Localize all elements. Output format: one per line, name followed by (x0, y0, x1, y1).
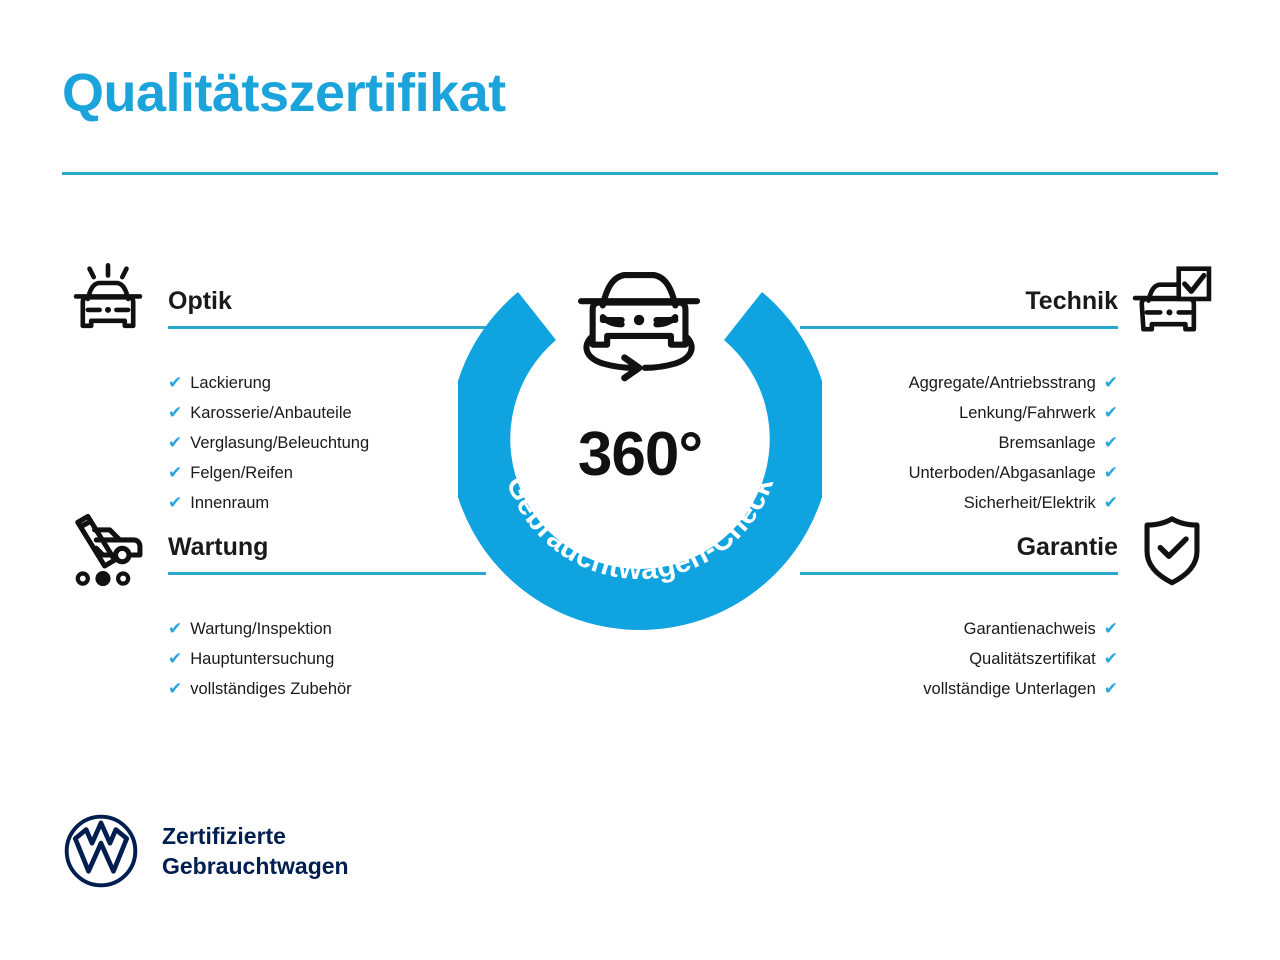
list-item-label: Karosserie/Anbauteile (190, 398, 351, 428)
list-item-label: Qualitätszertifikat (969, 644, 1096, 674)
list-item: Qualitätszertifikat✔ (758, 644, 1118, 674)
brand-text: ZertifizierteGebrauchtwagen (162, 821, 349, 882)
section-title-wrap-garantie: Garantie (800, 534, 1118, 575)
check-icon: ✔ (1104, 644, 1118, 674)
checklist-technik: Aggregate/Antriebsstrang✔ Lenkung/Fahrwe… (758, 368, 1218, 518)
check-icon: ✔ (168, 614, 182, 644)
car-front-shine-icon (62, 262, 154, 346)
vw-logo-icon (62, 812, 140, 890)
list-item: ✔Hauptuntersuchung (168, 644, 522, 674)
section-title-wrap-wartung: Wartung (168, 534, 486, 575)
list-item: vollständige Unterlagen✔ (758, 674, 1118, 704)
section-title-wrap-technik: Technik (800, 288, 1118, 329)
section-divider-garantie (800, 572, 1118, 575)
section-title-garantie: Garantie (800, 534, 1118, 562)
section-title-wartung: Wartung (168, 534, 486, 562)
section-header-technik: Technik (758, 262, 1218, 352)
gebrauchtwagen-check-badge: Gebrauchtwagen-Check (458, 248, 822, 630)
section-garantie: Garantie Garantienachweis✔ Qualitätszert… (758, 508, 1218, 704)
check-icon: ✔ (168, 428, 182, 458)
section-divider-wartung (168, 572, 486, 575)
list-item-label: Aggregate/Antriebsstrang (909, 368, 1096, 398)
list-item-label: Bremsanlage (999, 428, 1096, 458)
check-icon: ✔ (168, 674, 182, 704)
checklist-wartung: ✔Wartung/Inspektion ✔Hauptuntersuchung ✔… (62, 614, 522, 704)
page-title: Qualitätszertifikat (62, 62, 506, 124)
list-item: ✔vollständiges Zubehör (168, 674, 522, 704)
badge-center-label: 360° (458, 424, 822, 486)
checklist-optik: ✔Lackierung ✔Karosserie/Anbauteile ✔Verg… (62, 368, 522, 518)
section-optik: Optik ✔Lackierung ✔Karosserie/Anbauteile… (62, 262, 522, 518)
list-item-label: Lackierung (190, 368, 271, 398)
list-item-label: Hauptuntersuchung (190, 644, 334, 674)
check-icon: ✔ (168, 398, 182, 428)
section-title-technik: Technik (800, 288, 1118, 316)
list-item-label: Garantienachweis (964, 614, 1096, 644)
section-title-optik: Optik (168, 288, 486, 316)
section-header-wartung: Wartung (62, 508, 522, 598)
section-header-garantie: Garantie (758, 508, 1218, 598)
check-icon: ✔ (1104, 368, 1118, 398)
car-service-pencil-icon (62, 508, 154, 592)
brand-lockup: ZertifizierteGebrauchtwagen (62, 812, 349, 890)
list-item-label: vollständige Unterlagen (923, 674, 1095, 704)
check-icon: ✔ (168, 644, 182, 674)
quality-certificate-page: Qualitätszertifikat (0, 0, 1280, 960)
section-wartung: Wartung ✔Wartung/Inspektion ✔Hauptunters… (62, 508, 522, 704)
shield-check-icon (1126, 508, 1218, 592)
car-front-checkbox-icon (1126, 262, 1218, 346)
check-icon: ✔ (1104, 398, 1118, 428)
section-divider-technik (800, 326, 1118, 329)
list-item-label: vollständiges Zubehör (190, 674, 351, 704)
list-item-label: Wartung/Inspektion (190, 614, 332, 644)
section-title-wrap-optik: Optik (168, 288, 486, 329)
header-divider (62, 172, 1218, 175)
list-item-label: Felgen/Reifen (190, 458, 293, 488)
check-icon: ✔ (168, 458, 182, 488)
check-icon: ✔ (1104, 458, 1118, 488)
section-divider-optik (168, 326, 486, 329)
brand-line-2: Gebrauchtwagen (162, 853, 349, 879)
checklist-garantie: Garantienachweis✔ Qualitätszertifikat✔ v… (758, 614, 1218, 704)
check-icon: ✔ (1104, 428, 1118, 458)
check-icon: ✔ (1104, 674, 1118, 704)
check-icon: ✔ (1104, 614, 1118, 644)
section-technik: Technik Aggregate/Antriebsstrang✔ Lenkun… (758, 262, 1218, 518)
check-icon: ✔ (168, 368, 182, 398)
list-item-label: Lenkung/Fahrwerk (959, 398, 1096, 428)
section-header-optik: Optik (62, 262, 522, 352)
brand-line-1: Zertifizierte (162, 823, 286, 849)
list-item-label: Verglasung/Beleuchtung (190, 428, 369, 458)
list-item-label: Unterboden/Abgasanlage (909, 458, 1096, 488)
